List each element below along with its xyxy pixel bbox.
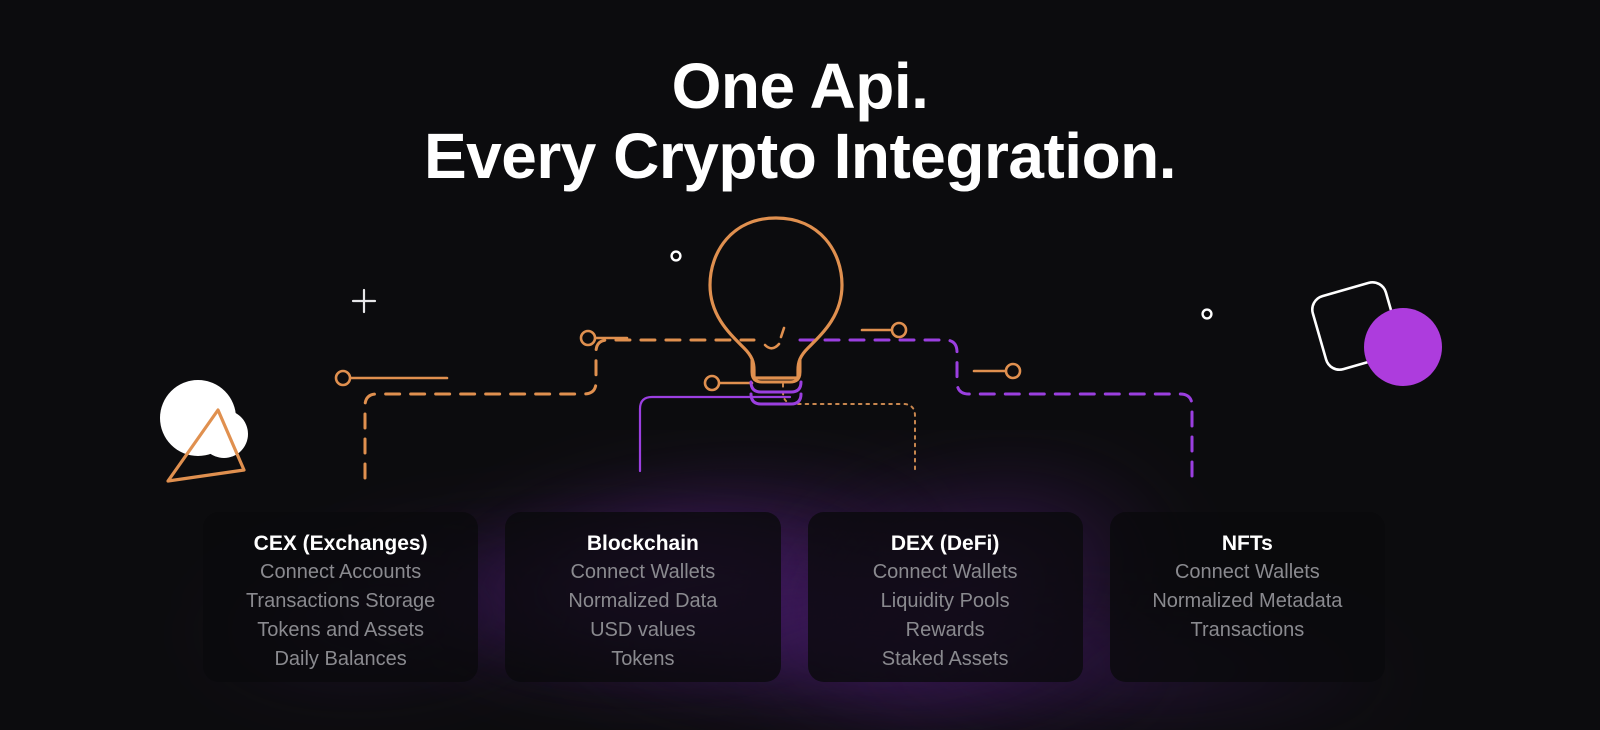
orange-trace-left [365, 340, 754, 478]
hero-section: One Api. Every Crypto Integration. [0, 0, 1600, 730]
page-title-line-1: One Api. [0, 51, 1600, 121]
purple-circle [1364, 308, 1442, 386]
card-item: USD values [590, 616, 696, 645]
card-item: Staked Assets [882, 645, 1009, 674]
connector-node-right [974, 364, 1020, 378]
ring-marker-left [672, 252, 681, 261]
card-item: Tokens and Assets [257, 616, 424, 645]
card-dex[interactable]: DEX (DeFi) Connect Wallets Liquidity Poo… [808, 512, 1083, 682]
orange-trace-center-dotted [783, 384, 915, 474]
cone-shape-left [160, 380, 248, 481]
connector-node-center [705, 376, 752, 390]
connector-node-bulb-left [581, 331, 627, 345]
card-nfts[interactable]: NFTs Connect Wallets Normalized Metadata… [1110, 512, 1385, 682]
card-blockchain[interactable]: Blockchain Connect Wallets Normalized Da… [505, 512, 780, 682]
connector-node-bulb-right [862, 323, 906, 337]
card-cex[interactable]: CEX (Exchanges) Connect Accounts Transac… [203, 512, 478, 682]
card-item: Connect Wallets [1175, 558, 1320, 587]
card-title: DEX (DeFi) [891, 529, 1000, 558]
page-title: One Api. Every Crypto Integration. [0, 51, 1600, 191]
purple-trace-center-solid [640, 397, 790, 471]
ring-marker-right [1203, 310, 1212, 319]
card-item: Normalized Metadata [1152, 587, 1342, 616]
lightbulb-icon [710, 218, 842, 404]
card-item: Normalized Data [568, 587, 717, 616]
card-item: Tokens [611, 645, 674, 674]
card-item: Connect Accounts [260, 558, 421, 587]
card-item: Daily Balances [274, 645, 406, 674]
card-title: NFTs [1222, 529, 1273, 558]
card-item: Connect Wallets [570, 558, 715, 587]
card-title: CEX (Exchanges) [254, 529, 428, 558]
card-title: Blockchain [587, 529, 699, 558]
capability-cards: CEX (Exchanges) Connect Accounts Transac… [203, 512, 1385, 682]
card-item: Rewards [906, 616, 985, 645]
connector-node-left [336, 371, 447, 385]
purple-trace-right [800, 340, 1192, 478]
card-item: Transactions [1191, 616, 1305, 645]
page-title-line-2: Every Crypto Integration. [0, 121, 1600, 191]
rounded-square-outline [1309, 279, 1403, 373]
card-item: Liquidity Pools [881, 587, 1010, 616]
plus-marker [353, 290, 375, 312]
card-item: Connect Wallets [873, 558, 1018, 587]
card-item: Transactions Storage [246, 587, 435, 616]
